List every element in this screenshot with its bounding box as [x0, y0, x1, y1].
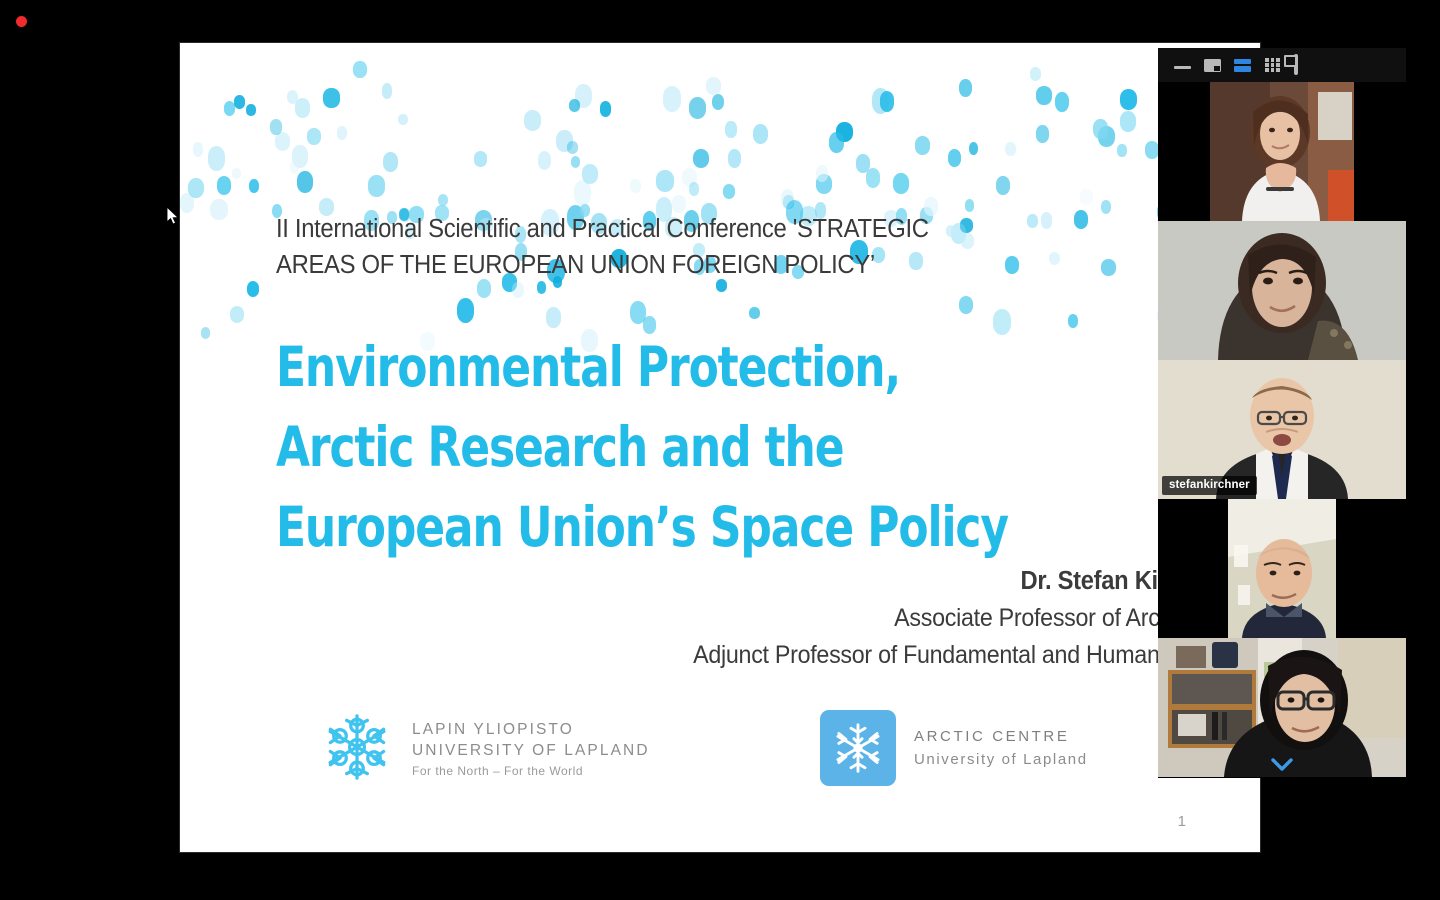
shared-presentation-slide[interactable]: II International Scientific and Practica…: [180, 43, 1260, 852]
logo-arctic-centre-text: ARCTIC CENTRE University of Lapland: [914, 725, 1088, 771]
logo-university-of-lapland-text: LAPIN YLIOPISTO UNIVERSITY OF LAPLAND Fo…: [412, 719, 650, 781]
mouse-pointer-icon: [166, 206, 180, 226]
slide-logo-row: LAPIN YLIOPISTO UNIVERSITY OF LAPLAND Fo…: [180, 698, 1260, 808]
logo-lapland-line-1: LAPIN YLIOPISTO: [412, 719, 650, 740]
popout-icon[interactable]: [1294, 56, 1298, 74]
conference-subtitle-line-1: II International Scientific and Practica…: [276, 211, 1024, 247]
recording-dot-icon: [16, 16, 27, 27]
logo-arctic-centre: ARCTIC CENTRE University of Lapland: [820, 710, 1088, 786]
participant-tile[interactable]: [1158, 221, 1406, 360]
author-role-secondary: Adjunct Professor of Fundamental and Hum…: [254, 637, 1231, 674]
slide-page-number: 1: [1178, 813, 1186, 830]
logo-arctic-line-2: University of Lapland: [914, 748, 1088, 771]
participant-name-tag: stefankirchner: [1162, 476, 1257, 495]
participant-tile-active-speaker[interactable]: stefankirchner: [1158, 360, 1406, 499]
recording-indicator-bar: Recording: [0, 0, 1440, 43]
speaker-view-icon[interactable]: [1204, 58, 1221, 72]
participant-tile-list[interactable]: stefankirchner: [1158, 82, 1406, 778]
participant-video-panel[interactable]: stefankirchner: [1158, 48, 1406, 778]
slide-title-line-3: European Union’s Space Policy: [276, 487, 1076, 567]
participant-tile[interactable]: [1158, 638, 1406, 777]
slide-title-line-2: Arctic Research and the: [276, 407, 1076, 487]
participant-video: [1158, 82, 1406, 221]
slide-title: Environmental Protection, Arctic Researc…: [276, 327, 1076, 567]
active-strip-view-icon[interactable]: [1234, 58, 1251, 72]
conference-subtitle-line-2: AREAS OF THE EUROPEAN UNION FOREIGN POLI…: [276, 247, 1024, 283]
author-role-primary: Associate Professor of Arctic Law: [254, 600, 1231, 637]
logo-arctic-line-1: ARCTIC CENTRE: [914, 725, 1088, 748]
decorative-dot-pattern: [180, 43, 1260, 343]
recording-label: Recording: [35, 13, 108, 31]
participant-video: [1158, 499, 1406, 638]
slide-title-line-1: Environmental Protection,: [276, 327, 1076, 407]
snowflake-badge-icon: [820, 710, 896, 786]
snowflake-outline-icon: [320, 710, 394, 789]
logo-lapland-line-2: UNIVERSITY OF LAPLAND: [412, 740, 650, 761]
author-name: Dr. Stefan Kirchner: [254, 563, 1231, 600]
chevron-down-icon[interactable]: [1271, 758, 1293, 771]
participant-tile[interactable]: [1158, 499, 1406, 638]
author-block: Dr. Stefan Kirchner Associate Professor …: [254, 563, 1231, 674]
participant-video: [1158, 638, 1406, 777]
participant-tile[interactable]: [1158, 82, 1406, 221]
video-panel-toolbar[interactable]: [1158, 48, 1406, 82]
gallery-view-icon[interactable]: [1264, 58, 1281, 72]
logo-university-of-lapland: LAPIN YLIOPISTO UNIVERSITY OF LAPLAND Fo…: [320, 710, 650, 789]
participant-video: [1158, 221, 1406, 360]
conference-subtitle: II International Scientific and Practica…: [276, 211, 1024, 283]
logo-lapland-tagline: For the North – For the World: [412, 761, 650, 781]
minimize-icon[interactable]: [1174, 58, 1191, 72]
